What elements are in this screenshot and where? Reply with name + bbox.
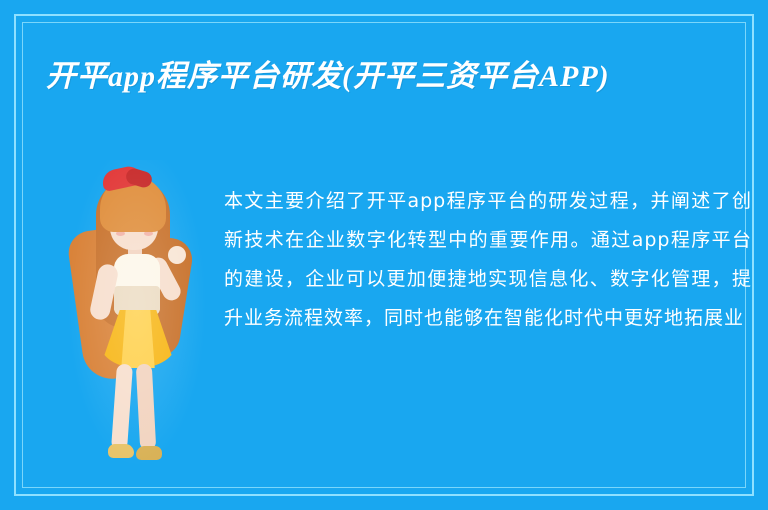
poster-canvas: 开平app程序平台研发(开平三资平台APP) 本文主要介绍了开平app程序平台的… bbox=[0, 0, 768, 510]
leg-right bbox=[136, 364, 156, 451]
shoe-right bbox=[136, 446, 162, 460]
shoe-left bbox=[108, 444, 134, 458]
anime-girl-character bbox=[72, 168, 202, 478]
poster-title: 开平app程序平台研发(开平三资平台APP) bbox=[46, 56, 736, 98]
poster-body-text: 本文主要介绍了开平app程序平台的研发过程，并阐述了创新技术在企业数字化转型中的… bbox=[224, 182, 752, 338]
hand-right bbox=[168, 246, 186, 264]
